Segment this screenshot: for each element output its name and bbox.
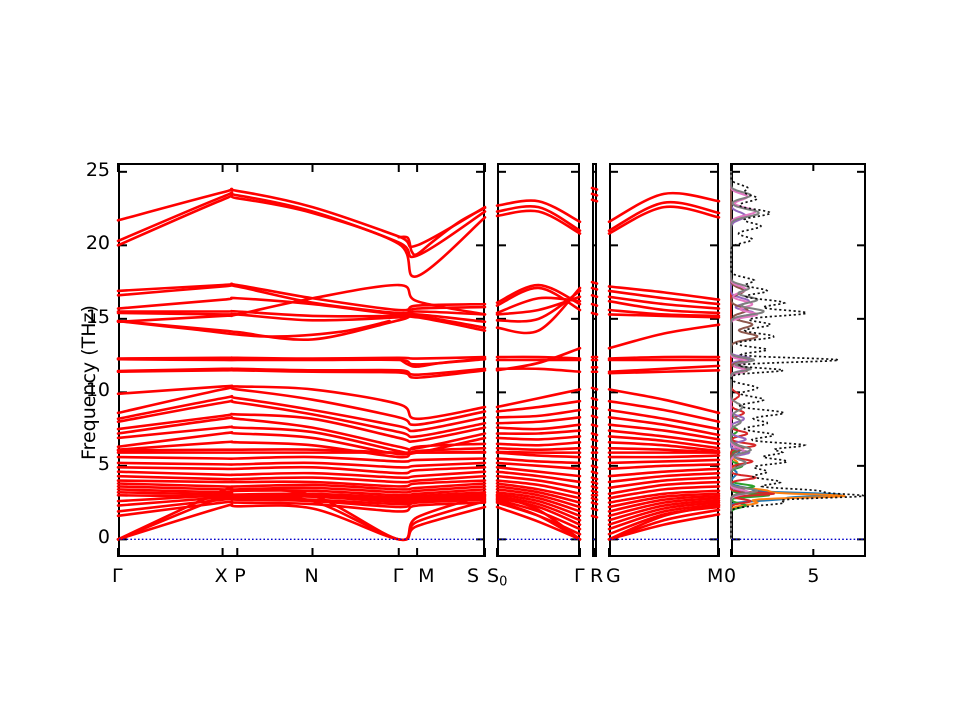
hs-label-gamma-3: Γ <box>574 565 585 587</box>
hs-label-gamma-2: Γ <box>393 565 404 587</box>
dos-partial-0 <box>731 163 841 539</box>
hs-label-m-1: M <box>418 565 434 587</box>
hs-label-s0: S0 <box>487 565 507 589</box>
hs-label-n: N <box>305 565 319 587</box>
hs-label-s: S <box>467 565 479 587</box>
dos-tick-0: 0 <box>724 565 736 587</box>
dos-total-curve <box>731 163 864 539</box>
hs-label-gamma-1: Γ <box>112 565 123 587</box>
hs-label-m-2: M <box>707 565 723 587</box>
dos-partial-1 <box>731 163 845 539</box>
phonon-band-dos-figure: Frequency (THz) 0510152025 ΓXPNΓMSS0ΓRGM… <box>0 0 960 720</box>
hs-label-r: R <box>590 565 603 587</box>
plot-curves <box>0 0 960 720</box>
hs-label-g: G <box>606 565 621 587</box>
hs-label-p: P <box>234 565 245 587</box>
dos-tick-5: 5 <box>807 565 819 587</box>
hs-label-x: X <box>215 565 228 587</box>
